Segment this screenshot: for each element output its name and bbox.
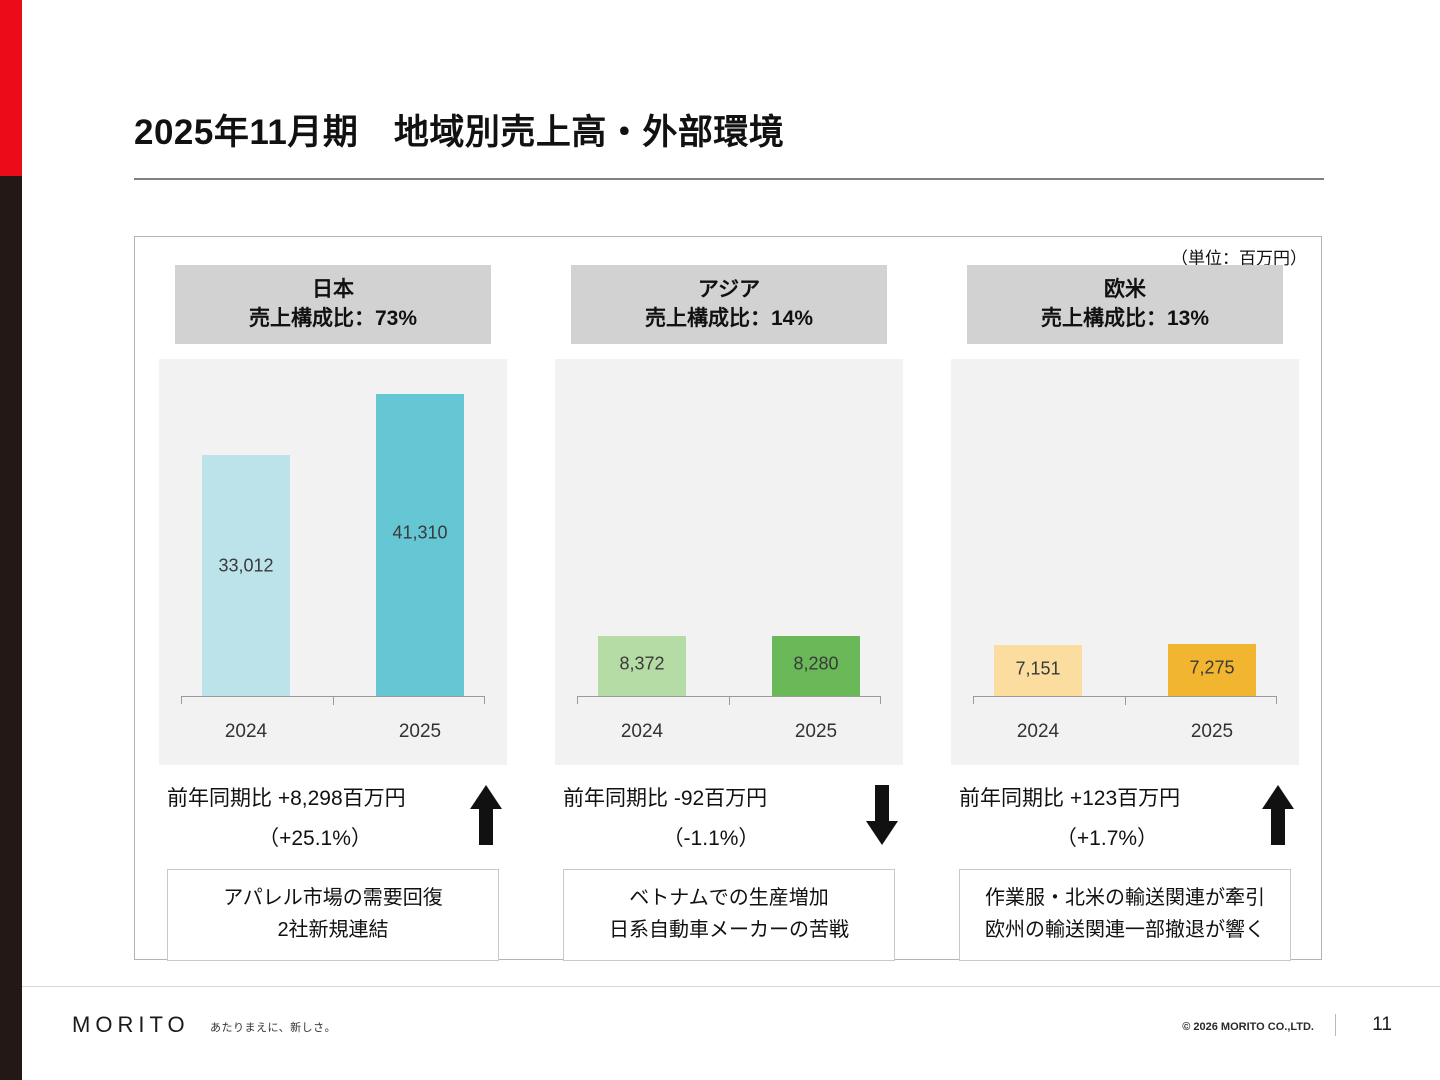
region-header-asia: アジア 売上構成比：14% <box>571 265 887 344</box>
bar-japan-2024: 33,012 <box>202 455 290 697</box>
note-box-euro-america: 作業服・北米の輸送関連が牽引 欧州の輸送関連一部撤退が響く <box>959 869 1291 961</box>
region-header-japan: 日本 売上構成比：73% <box>175 265 491 344</box>
yoy-amount-japan: 前年同期比 +8,298百万円 <box>167 779 463 819</box>
bar-slot-2025: 41,310 <box>333 367 507 697</box>
bar-value-japan-2024: 33,012 <box>218 556 273 577</box>
x-label-japan-2025: 2025 <box>333 721 507 743</box>
x-axis-tick-asia <box>729 697 730 705</box>
footer-divider-line <box>22 986 1440 987</box>
yoy-percent-japan: （+25.1%） <box>167 819 463 859</box>
x-tick-labels-japan: 2024 2025 <box>159 721 507 743</box>
region-share-asia: 売上構成比：14% <box>571 304 887 333</box>
note-line-2: 欧州の輸送関連一部撤退が響く <box>964 914 1286 946</box>
region-share-japan: 売上構成比：73% <box>175 304 491 333</box>
yoy-text-asia: 前年同期比 -92百万円 （-1.1%） <box>563 779 859 859</box>
slide-edge-accent <box>0 0 22 1080</box>
title-divider <box>134 178 1324 180</box>
region-name-asia: アジア <box>571 275 887 304</box>
note-box-asia: ベトナムでの生産増加 日系自動車メーカーの苦戦 <box>563 869 895 961</box>
region-panel-japan: 日本 売上構成比：73% 33,012 41,310 <box>159 265 507 961</box>
note-line-2: 日系自動車メーカーの苦戦 <box>568 914 890 946</box>
yoy-amount-euro-america: 前年同期比 +123百万円 <box>959 779 1255 819</box>
x-label-japan-2024: 2024 <box>159 721 333 743</box>
x-label-euro-america-2024: 2024 <box>951 721 1125 743</box>
yoy-text-euro-america: 前年同期比 +123百万円 （+1.7%） <box>959 779 1255 859</box>
page-title: 2025年11月期 地域別売上高・外部環境 <box>134 104 1324 155</box>
note-line-2: 2社新規連結 <box>172 914 494 946</box>
bar-slot-2024: 8,372 <box>555 367 729 697</box>
bar-asia-2025: 8,280 <box>772 636 860 697</box>
page-number: 11 <box>1372 1014 1392 1036</box>
bar-value-asia-2025: 8,280 <box>793 654 838 675</box>
x-axis-tick-euro-america <box>1125 697 1126 705</box>
footer-separator <box>1335 1014 1336 1036</box>
bar-slot-2024: 7,151 <box>951 367 1125 697</box>
arrow-down-icon <box>865 783 899 847</box>
copyright-text: © 2026 MORITO CO.,LTD. <box>1182 1021 1314 1033</box>
x-axis-asia <box>577 696 881 704</box>
region-columns: 日本 売上構成比：73% 33,012 41,310 <box>135 237 1323 961</box>
x-tick-labels-euro-america: 2024 2025 <box>951 721 1299 743</box>
x-tick-labels-asia: 2024 2025 <box>555 721 903 743</box>
bar-value-asia-2024: 8,372 <box>619 653 664 674</box>
yoy-amount-asia: 前年同期比 -92百万円 <box>563 779 859 819</box>
bar-asia-2024: 8,372 <box>598 636 686 697</box>
yoy-block-asia: 前年同期比 -92百万円 （-1.1%） <box>555 779 903 859</box>
region-name-euro-america: 欧米 <box>967 275 1283 304</box>
region-panel-asia: アジア 売上構成比：14% 8,372 8,280 <box>555 265 903 961</box>
bar-euro-america-2024: 7,151 <box>994 645 1082 697</box>
bar-value-japan-2025: 41,310 <box>392 523 447 544</box>
company-tagline: あたりまえに、新しさ。 <box>210 1019 336 1035</box>
region-share-euro-america: 売上構成比：13% <box>967 304 1283 333</box>
bar-chart-japan: 33,012 41,310 2024 2025 <box>159 359 507 765</box>
edge-accent-red <box>0 0 22 176</box>
region-header-euro-america: 欧米 売上構成比：13% <box>967 265 1283 344</box>
x-label-asia-2024: 2024 <box>555 721 729 743</box>
arrow-up-icon <box>1261 783 1295 847</box>
x-axis-japan <box>181 696 485 704</box>
bar-slot-2025: 7,275 <box>1125 367 1299 697</box>
company-logo: MORITO <box>72 1012 190 1038</box>
bar-group-asia: 8,372 8,280 <box>555 367 903 697</box>
arrow-up-icon <box>469 783 503 847</box>
x-axis-tick-japan <box>333 697 334 705</box>
region-panel-euro-america: 欧米 売上構成比：13% 7,151 7,275 <box>951 265 1299 961</box>
bar-chart-asia: 8,372 8,280 2024 2025 <box>555 359 903 765</box>
region-name-japan: 日本 <box>175 275 491 304</box>
bar-value-euro-america-2025: 7,275 <box>1189 658 1234 679</box>
yoy-percent-euro-america: （+1.7%） <box>959 819 1255 859</box>
x-label-euro-america-2025: 2025 <box>1125 721 1299 743</box>
yoy-block-euro-america: 前年同期比 +123百万円 （+1.7%） <box>951 779 1299 859</box>
edge-accent-dark <box>0 176 22 1080</box>
bar-group-japan: 33,012 41,310 <box>159 367 507 697</box>
bar-value-euro-america-2024: 7,151 <box>1015 658 1060 679</box>
bar-japan-2025: 41,310 <box>376 394 464 697</box>
note-box-japan: アパレル市場の需要回復 2社新規連結 <box>167 869 499 961</box>
yoy-block-japan: 前年同期比 +8,298百万円 （+25.1%） <box>159 779 507 859</box>
content-panel: （単位：百万円） 日本 売上構成比：73% 33,012 41,310 <box>134 236 1322 960</box>
x-axis-euro-america <box>973 696 1277 704</box>
bar-euro-america-2025: 7,275 <box>1168 644 1256 697</box>
note-line-1: ベトナムでの生産増加 <box>568 882 890 914</box>
note-line-1: 作業服・北米の輸送関連が牽引 <box>964 882 1286 914</box>
bar-slot-2024: 33,012 <box>159 367 333 697</box>
bar-slot-2025: 8,280 <box>729 367 903 697</box>
bar-group-euro-america: 7,151 7,275 <box>951 367 1299 697</box>
note-line-1: アパレル市場の需要回復 <box>172 882 494 914</box>
bar-chart-euro-america: 7,151 7,275 2024 2025 <box>951 359 1299 765</box>
yoy-text-japan: 前年同期比 +8,298百万円 （+25.1%） <box>167 779 463 859</box>
x-label-asia-2025: 2025 <box>729 721 903 743</box>
yoy-percent-asia: （-1.1%） <box>563 819 859 859</box>
